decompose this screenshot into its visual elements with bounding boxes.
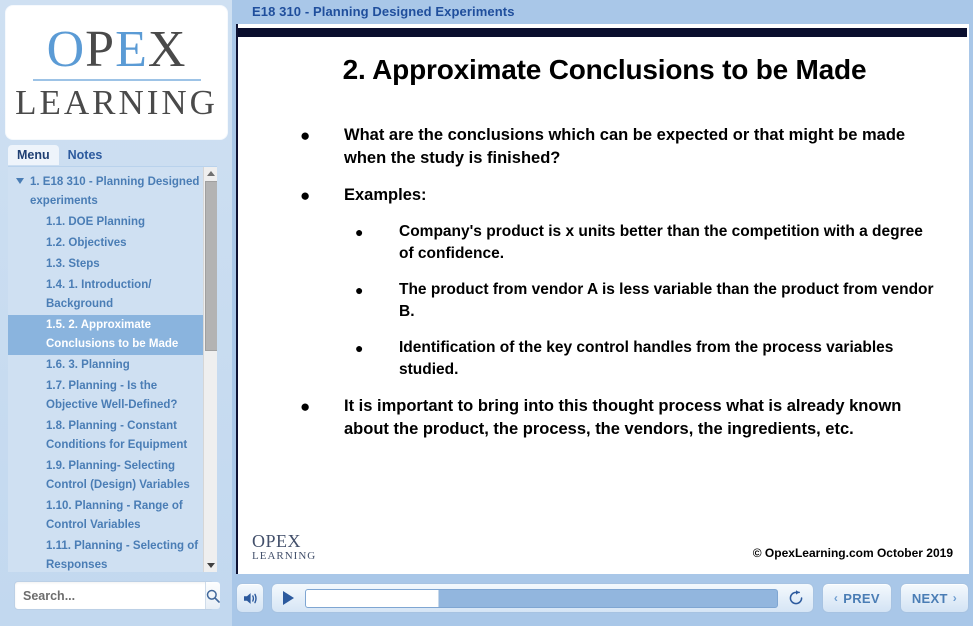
bullet-dot-icon: ● bbox=[300, 184, 344, 207]
bullet-dot-icon: ● bbox=[355, 337, 399, 360]
bullet-text: What are the conclusions which can be ex… bbox=[344, 124, 940, 170]
bullet-item-0: ●What are the conclusions which can be e… bbox=[300, 124, 940, 170]
bullet-text: It is important to bring into this thoug… bbox=[344, 395, 940, 441]
caret-up-icon bbox=[207, 171, 215, 176]
bullet-item-3: ●The product from vendor A is less varia… bbox=[355, 279, 940, 323]
outline-item-label: 1.1. DOE Planning bbox=[46, 216, 145, 228]
outline-item-3[interactable]: 1.3. Steps bbox=[8, 254, 204, 275]
outline-item-label: 1.3. Steps bbox=[46, 258, 100, 270]
course-player: OPEX LEARNING Menu Notes 1. E18 310 - Pl… bbox=[0, 0, 973, 626]
outline-item-label: 1. E18 310 - Planning Designed experimen… bbox=[30, 176, 199, 207]
slide-copyright: © OpexLearning.com October 2019 bbox=[753, 546, 953, 560]
next-button[interactable]: NEXT › bbox=[900, 583, 969, 613]
logo-divider bbox=[33, 79, 201, 81]
prev-button[interactable]: ‹ PREV bbox=[822, 583, 892, 613]
search-button[interactable] bbox=[205, 582, 220, 609]
scroll-up-button[interactable] bbox=[204, 167, 217, 180]
bullet-text: Identification of the key control handle… bbox=[399, 337, 940, 381]
volume-button[interactable] bbox=[236, 583, 264, 613]
outline-item-9[interactable]: 1.9. Planning- Selecting Control (Design… bbox=[8, 456, 204, 496]
progress-bar[interactable] bbox=[305, 589, 778, 608]
outline-item-11[interactable]: 1.11. Planning - Selecting of Responses bbox=[8, 536, 204, 572]
bullet-item-2: ●Company's product is x units better tha… bbox=[355, 221, 940, 265]
logo-letter-e: E bbox=[115, 21, 148, 78]
slide-title: 2. Approximate Conclusions to be Made bbox=[238, 54, 971, 86]
player-controls: ‹ PREV NEXT › bbox=[236, 580, 969, 616]
menu-scrollbar[interactable] bbox=[203, 167, 217, 572]
bullet-dot-icon: ● bbox=[355, 279, 399, 302]
outline-item-label: 1.5. 2. Approximate Conclusions to be Ma… bbox=[46, 319, 178, 350]
outline-item-label: 1.2. Objectives bbox=[46, 237, 127, 249]
replay-icon bbox=[787, 589, 805, 607]
outline-item-label: 1.11. Planning - Selecting of Responses bbox=[46, 540, 198, 571]
logo-letter-o: O bbox=[47, 21, 86, 78]
brand-logo: OPEX LEARNING bbox=[6, 6, 227, 139]
menu-panel: 1. E18 310 - Planning Designed experimen… bbox=[8, 166, 217, 572]
bullet-dot-icon: ● bbox=[300, 395, 344, 418]
sidebar: OPEX LEARNING Menu Notes 1. E18 310 - Pl… bbox=[0, 0, 232, 626]
outline-item-7[interactable]: 1.7. Planning - Is the Objective Well-De… bbox=[8, 376, 204, 416]
sidebar-tabs: Menu Notes bbox=[8, 145, 225, 165]
chevron-right-icon: › bbox=[953, 591, 957, 605]
logo-letter-p: P bbox=[85, 21, 115, 78]
next-button-label: NEXT bbox=[912, 591, 948, 606]
slide-canvas: 2. Approximate Conclusions to be Made ●W… bbox=[236, 24, 969, 574]
bullet-dot-icon: ● bbox=[355, 221, 399, 244]
main-area: E18 310 - Planning Designed Experiments … bbox=[232, 0, 973, 626]
slide-top-rule bbox=[238, 28, 967, 37]
scroll-down-button[interactable] bbox=[204, 559, 217, 572]
replay-button[interactable] bbox=[785, 587, 807, 609]
outline-item-label: 1.6. 3. Planning bbox=[46, 359, 130, 371]
logo-opex-wordmark: OPEX bbox=[47, 23, 187, 77]
chevron-left-icon: ‹ bbox=[834, 591, 838, 605]
caret-down-icon[interactable] bbox=[16, 178, 24, 184]
transport-bar bbox=[271, 583, 814, 613]
outline-item-2[interactable]: 1.2. Objectives bbox=[8, 233, 204, 254]
outline-item-8[interactable]: 1.8. Planning - Constant Conditions for … bbox=[8, 416, 204, 456]
tab-menu[interactable]: Menu bbox=[8, 145, 59, 165]
bullet-text: Examples: bbox=[344, 184, 427, 207]
search-input[interactable] bbox=[15, 582, 205, 609]
outline-item-label: 1.4. 1. Introduction/ Background bbox=[46, 279, 151, 310]
outline-item-1[interactable]: 1.1. DOE Planning bbox=[8, 212, 204, 233]
play-button[interactable] bbox=[278, 588, 298, 608]
footer-logo-learning: LEARNING bbox=[252, 550, 316, 562]
slide-footer-logo: OPEX LEARNING bbox=[252, 532, 316, 562]
bullet-text: Company's product is x units better than… bbox=[399, 221, 940, 265]
outline-item-6[interactable]: 1.6. 3. Planning bbox=[8, 355, 204, 376]
outline-item-label: 1.7. Planning - Is the Objective Well-De… bbox=[46, 380, 177, 411]
logo-letter-x: X bbox=[148, 21, 187, 78]
footer-logo-opex: OPEX bbox=[252, 532, 316, 550]
outline-item-label: 1.9. Planning- Selecting Control (Design… bbox=[46, 460, 190, 491]
progress-fill bbox=[306, 590, 439, 607]
bullet-text: The product from vendor A is less variab… bbox=[399, 279, 940, 323]
play-icon bbox=[283, 591, 294, 605]
caret-down-icon bbox=[207, 563, 215, 568]
bullet-item-1: ●Examples: bbox=[300, 184, 940, 207]
prev-button-label: PREV bbox=[843, 591, 880, 606]
search-box[interactable] bbox=[14, 581, 214, 610]
search-icon bbox=[206, 589, 220, 603]
bullet-item-5: ●It is important to bring into this thou… bbox=[300, 395, 940, 441]
course-outline-tree: 1. E18 310 - Planning Designed experimen… bbox=[8, 167, 204, 572]
speaker-icon bbox=[242, 591, 259, 606]
outline-item-label: 1.8. Planning - Constant Conditions for … bbox=[46, 420, 187, 451]
outline-item-4[interactable]: 1.4. 1. Introduction/ Background bbox=[8, 275, 204, 315]
logo-learning-wordmark: LEARNING bbox=[15, 84, 218, 122]
outline-item-5[interactable]: 1.5. 2. Approximate Conclusions to be Ma… bbox=[8, 315, 204, 355]
bullet-dot-icon: ● bbox=[300, 124, 344, 147]
course-title: E18 310 - Planning Designed Experiments bbox=[252, 4, 515, 19]
tab-notes[interactable]: Notes bbox=[59, 145, 112, 165]
outline-item-10[interactable]: 1.10. Planning - Range of Control Variab… bbox=[8, 496, 204, 536]
outline-item-0[interactable]: 1. E18 310 - Planning Designed experimen… bbox=[8, 172, 204, 212]
scrollbar-thumb[interactable] bbox=[205, 181, 217, 351]
slide-bullet-list: ●What are the conclusions which can be e… bbox=[300, 124, 940, 455]
bullet-item-4: ●Identification of the key control handl… bbox=[355, 337, 940, 381]
outline-item-label: 1.10. Planning - Range of Control Variab… bbox=[46, 500, 183, 531]
